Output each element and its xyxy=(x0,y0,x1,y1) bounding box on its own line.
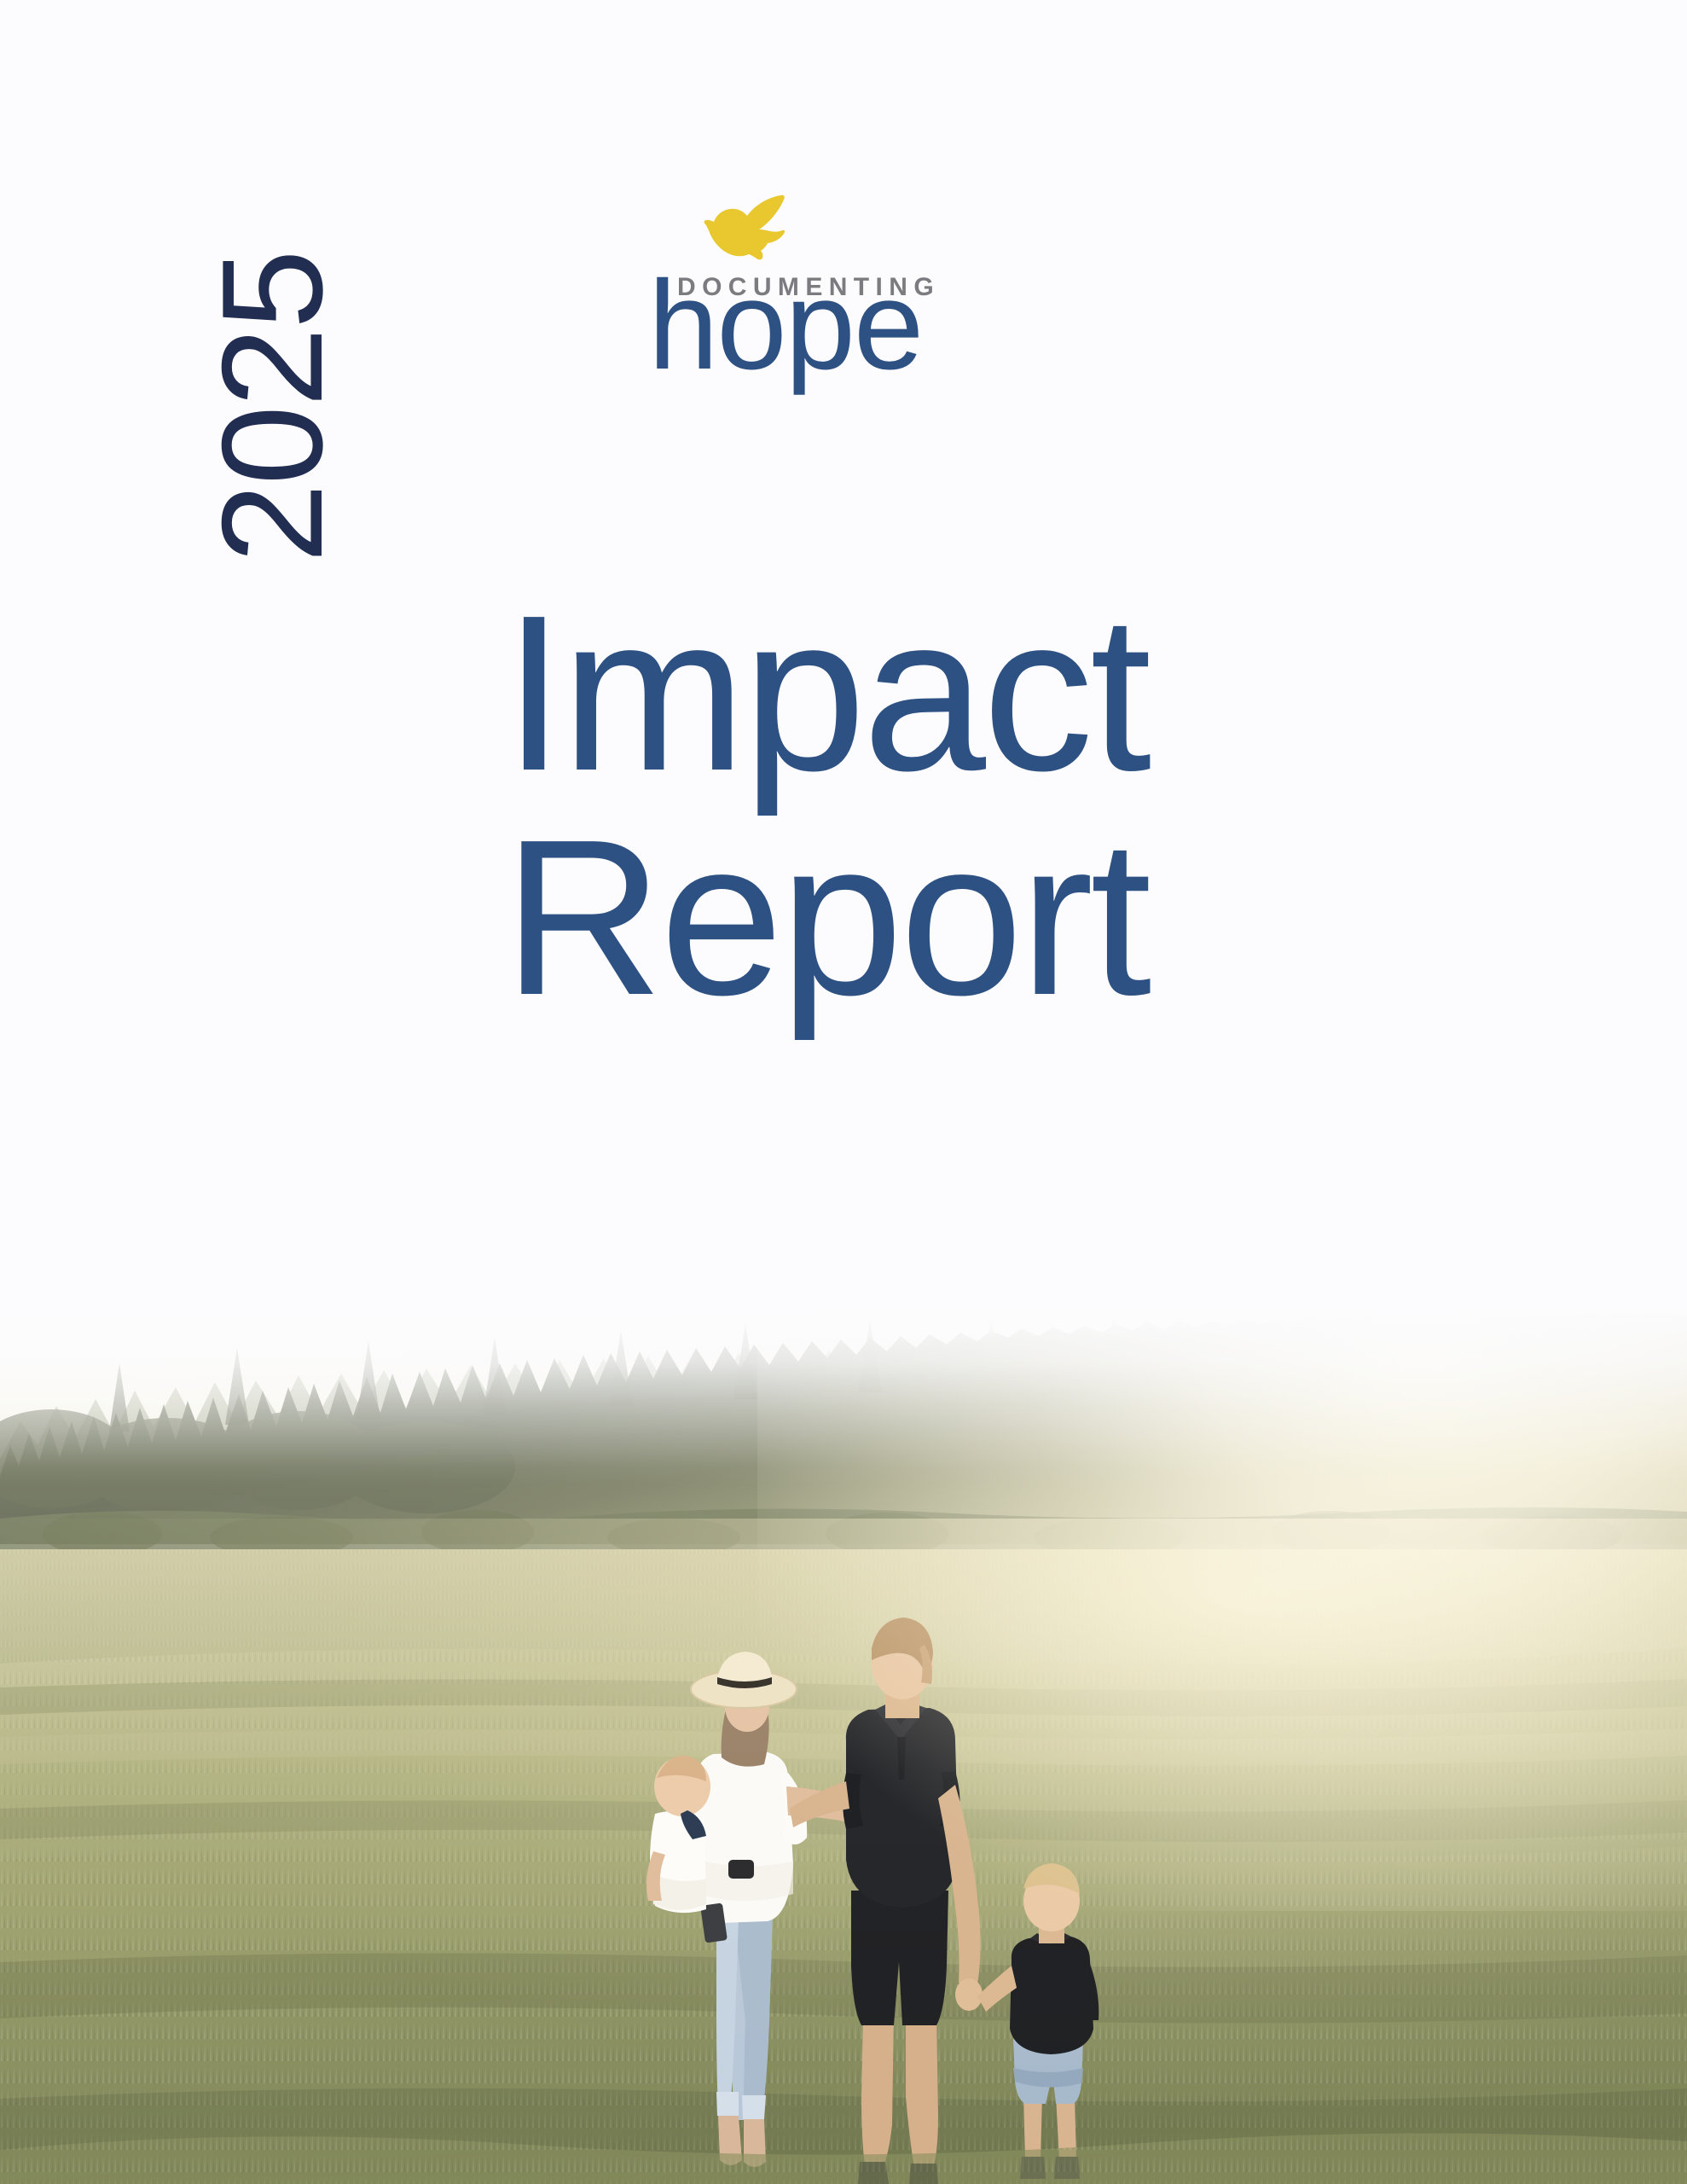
logo-wordmark: hope DOCUMENTING xyxy=(633,275,1076,420)
ground-sun-glow xyxy=(0,1519,1687,2184)
meadow-scene-illustration xyxy=(0,1263,1687,2184)
title-line-report: Report xyxy=(503,813,1148,1024)
wristwatch xyxy=(728,1860,754,1879)
report-cover-page: hope DOCUMENTING 2025 Impact Report xyxy=(0,0,1687,2184)
logo-documenting-text: DOCUMENTING xyxy=(677,275,940,300)
cover-title-block: 2025 Impact Report xyxy=(0,0,1687,1263)
title-line-impact: Impact xyxy=(503,589,1148,799)
cover-photograph xyxy=(0,1263,1687,2184)
report-year: 2025 xyxy=(200,251,344,563)
documenting-hope-logo[interactable]: hope DOCUMENTING xyxy=(633,195,1076,420)
fathers-hand xyxy=(955,1978,983,2011)
baby-figure xyxy=(646,1756,710,1913)
report-title: Impact Report xyxy=(503,589,1148,1024)
